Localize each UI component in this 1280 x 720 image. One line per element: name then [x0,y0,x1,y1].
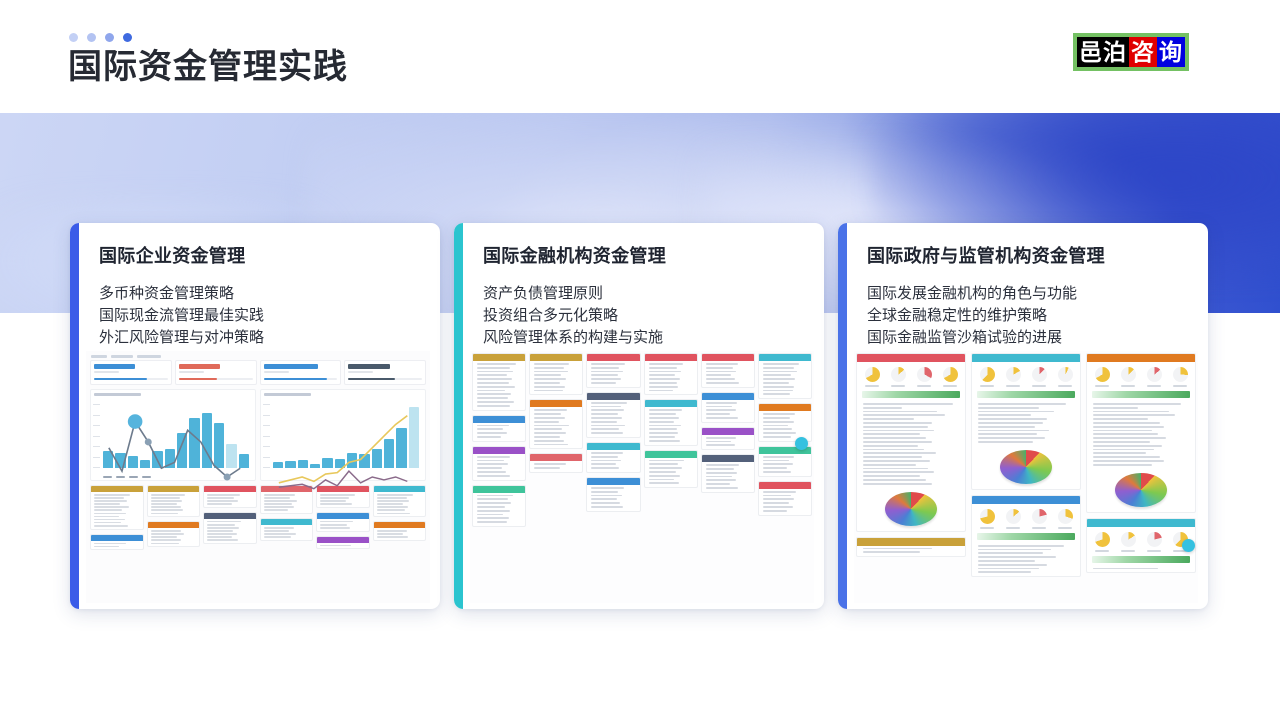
progress-dot-1 [69,33,78,42]
dashboard-chart-row [88,385,428,481]
card-bullet: 国际发展金融机构的角色与功能 [867,283,1190,305]
kpi-card [344,360,426,385]
card-bullets-1: 多币种资金管理策略 国际现金流管理最佳实践 外汇风险管理与对冲策略 [99,283,422,349]
progress-dots [69,33,132,42]
slide-root: 国际资金管理实践 邑泊 咨 询 国际企业资金管理 多币种资金管理策略 国际现金流… [0,0,1280,720]
logo-text-black: 邑泊 [1077,37,1129,67]
brand-logo: 邑泊 咨 询 [1073,33,1189,71]
dashboard-mock [86,351,430,603]
kpi-card [175,360,257,385]
card-title-3: 国际政府与监管机构资金管理 [867,243,1190,269]
masonry-mock [470,351,814,603]
dashboard-kpi-row [88,360,428,385]
content-card-2[interactable]: 国际金融机构资金管理 资产负债管理原则 投资组合多元化策略 风险管理体系的构建与… [454,223,824,609]
kpi-card [90,360,172,385]
chart-panel-left [90,389,256,481]
card-thumbnail-dashboard [86,351,430,603]
floating-action-badge[interactable] [1182,539,1195,552]
card-accent-bar-3 [838,223,847,609]
progress-dot-4 [123,33,132,42]
pie-chart [1115,473,1167,507]
card-bullet: 全球金融稳定性的维护策略 [867,305,1190,327]
content-card-3[interactable]: 国际政府与监管机构资金管理 国际发展金融机构的角色与功能 全球金融稳定性的维护策… [838,223,1208,609]
card-bullet: 投资组合多元化策略 [483,305,806,327]
card-bullet: 国际现金流管理最佳实践 [99,305,422,327]
content-card-list: 国际企业资金管理 多币种资金管理策略 国际现金流管理最佳实践 外汇风险管理与对冲… [70,223,1210,609]
line-series-right [273,404,419,492]
card-bullet: 国际金融监管沙箱试验的进展 [867,327,1190,349]
content-card-1[interactable]: 国际企业资金管理 多币种资金管理策略 国际现金流管理最佳实践 外汇风险管理与对冲… [70,223,440,609]
pie-chart [1000,450,1052,484]
card-thumbnail-masonry [470,351,814,603]
progress-dot-3 [105,33,114,42]
card-title-1: 国际企业资金管理 [99,243,422,269]
card-bullet: 风险管理体系的构建与实施 [483,327,806,349]
logo-text-red: 咨 [1129,37,1157,67]
report-panel [1086,353,1196,513]
kpi-card [260,360,342,385]
line-series-left [103,404,249,492]
report-panel [971,353,1081,490]
card-bullets-2: 资产负债管理原则 投资组合多元化策略 风险管理体系的构建与实施 [483,283,806,349]
report-panel [1086,518,1196,574]
report-panel [856,353,966,532]
report-panel [856,537,966,558]
card-bullets-3: 国际发展金融机构的角色与功能 全球金融稳定性的维护策略 国际金融监管沙箱试验的进… [867,283,1190,349]
page-title: 国际资金管理实践 [68,44,348,90]
progress-dot-2 [87,33,96,42]
slide-header: 国际资金管理实践 邑泊 咨 询 [0,0,1280,112]
card-title-2: 国际金融机构资金管理 [483,243,806,269]
card-accent-bar-1 [70,223,79,609]
report-mock [854,351,1198,603]
card-thumbnail-report [854,351,1198,603]
card-bullet: 资产负债管理原则 [483,283,806,305]
logo-text-blue: 询 [1157,37,1185,67]
floating-action-badge[interactable] [795,437,808,450]
pie-chart [885,492,937,526]
card-bullet: 多币种资金管理策略 [99,283,422,305]
card-bullet: 外汇风险管理与对冲策略 [99,327,422,349]
report-panel [971,495,1081,577]
card-accent-bar-2 [454,223,463,609]
chart-panel-right [260,389,426,481]
